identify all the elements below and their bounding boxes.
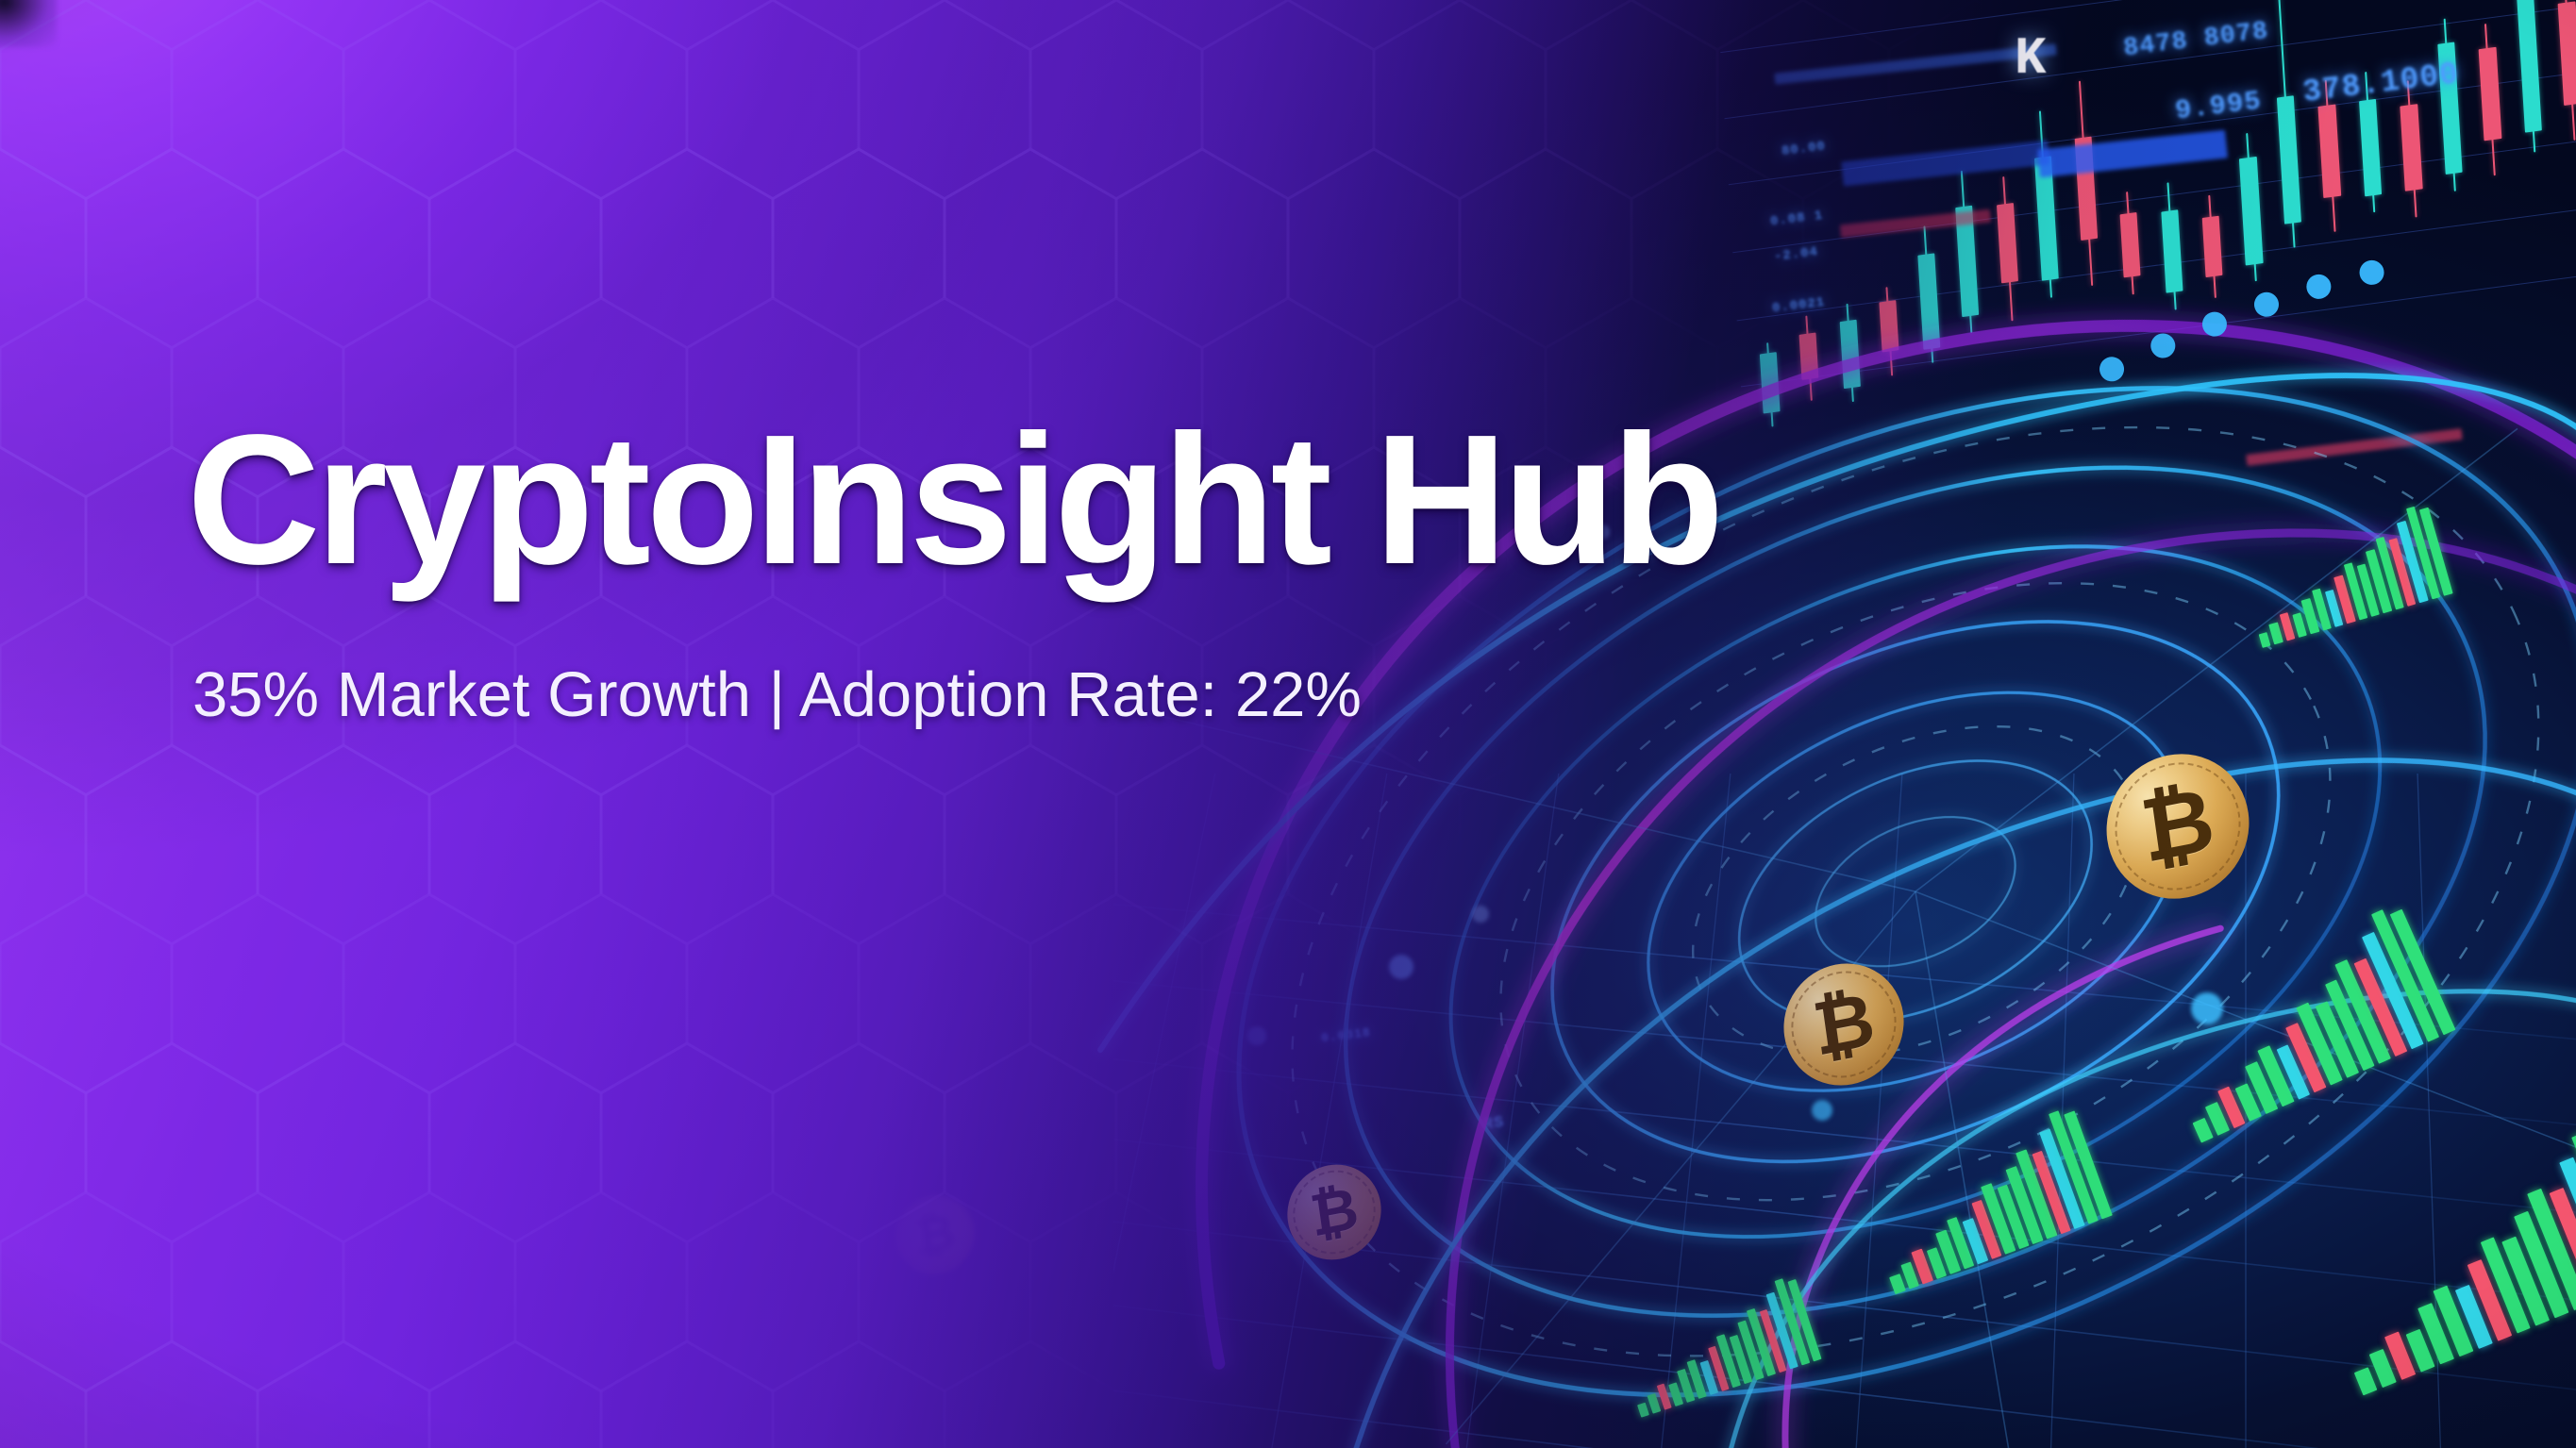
headline-block: CryptoInsight Hub 35% Market Growth | Ad… xyxy=(187,408,1719,731)
page-subtitle: 35% Market Growth | Adoption Rate: 22% xyxy=(192,658,1719,731)
page-title: CryptoInsight Hub xyxy=(187,408,1719,592)
bitcoin-coin-large: ₿ xyxy=(2106,755,2250,898)
bitcoin-icon: ₿ xyxy=(1307,1178,1362,1245)
bar xyxy=(2269,623,2283,645)
crypto-insight-hub-banner: 8478 80789.995378.100080.000.08 1-2.040.… xyxy=(0,0,2576,1448)
bitcoin-icon: ₿ xyxy=(2136,775,2220,877)
bokeh-dot xyxy=(2191,992,2223,1024)
bokeh-dot xyxy=(1247,1026,1266,1045)
coin-face: ₿ xyxy=(892,1190,979,1281)
bokeh-dot xyxy=(1812,1100,1832,1121)
hud-label-k: K xyxy=(2015,28,2048,89)
bitcoin-coin-medium: ₿ xyxy=(1783,964,1904,1085)
bitcoin-icon: ₿ xyxy=(1809,982,1880,1068)
bokeh-dot xyxy=(1472,906,1489,923)
bitcoin-coin-blur: ₿ xyxy=(896,1196,974,1273)
corner-artifact xyxy=(0,0,57,47)
bitcoin-coin-small: ₿ xyxy=(1287,1165,1381,1259)
bitcoin-icon: ₿ xyxy=(912,1207,958,1262)
bokeh-dot xyxy=(1389,955,1413,979)
bar xyxy=(1647,1393,1661,1414)
